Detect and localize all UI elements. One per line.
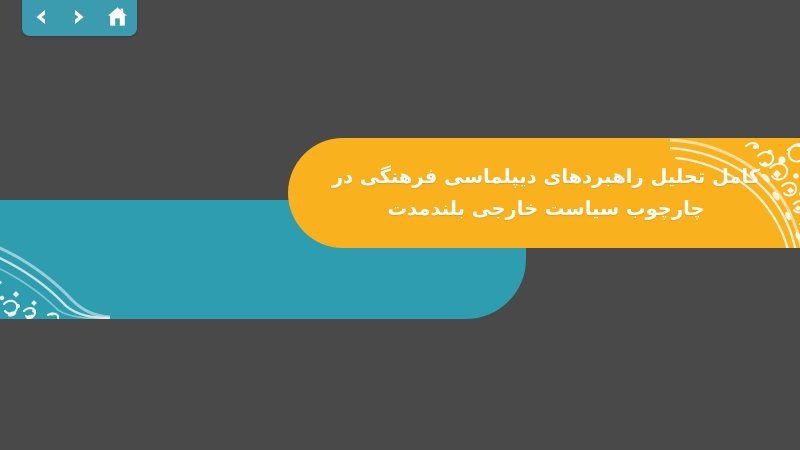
- back-button[interactable]: [26, 4, 56, 30]
- back-icon: [31, 7, 51, 27]
- slide-canvas: کامل تحلیل راهبردهای دیپلماسی فرهنگی در …: [0, 0, 800, 450]
- forward-icon: [69, 7, 89, 27]
- title-line-2: چارچوب سیاست خارجی بلندمدت: [331, 193, 761, 225]
- slide-title: کامل تحلیل راهبردهای دیپلماسی فرهنگی در …: [331, 161, 761, 224]
- arabesque-ornament: [0, 214, 110, 319]
- home-icon: [106, 6, 129, 28]
- home-button[interactable]: [103, 4, 133, 30]
- navigation-bar: [22, 0, 137, 36]
- forward-button[interactable]: [64, 4, 94, 30]
- title-line-1: کامل تحلیل راهبردهای دیپلماسی فرهنگی در: [331, 161, 761, 193]
- title-banner: کامل تحلیل راهبردهای دیپلماسی فرهنگی در …: [288, 138, 800, 248]
